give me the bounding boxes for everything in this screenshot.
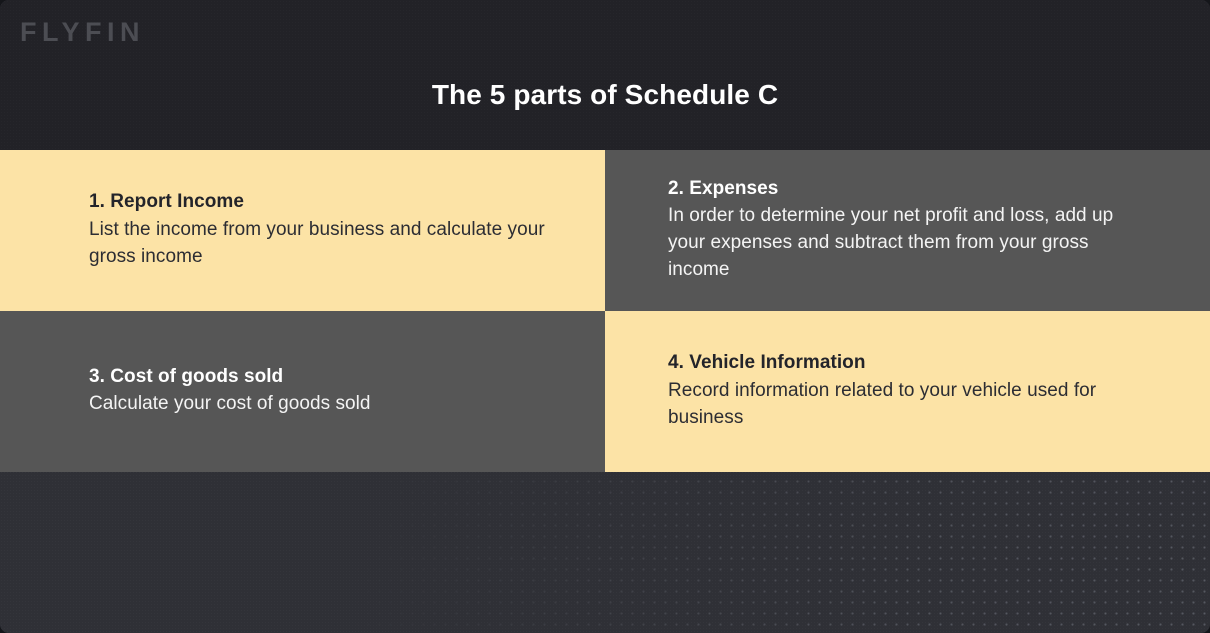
card-title: 2. Expenses [668, 177, 1150, 202]
card-body: Calculate your cost of goods sold [89, 391, 555, 418]
page-title: The 5 parts of Schedule C [0, 79, 1210, 111]
slide-header: FLYFIN The 5 parts of Schedule C [0, 0, 1210, 150]
card-cost-of-goods-sold: 3. Cost of goods sold Calculate your cos… [0, 311, 605, 472]
card-title: 4. Vehicle Information [668, 351, 1150, 376]
flyfin-logo: FLYFIN [20, 19, 145, 46]
card-expenses: 2. Expenses In order to determine your n… [605, 150, 1210, 311]
schedule-c-slide: FLYFIN The 5 parts of Schedule C 1. Repo… [0, 0, 1210, 633]
card-vehicle-information: 4. Vehicle Information Record informatio… [605, 311, 1210, 472]
card-body: In order to determine your net profit an… [668, 203, 1150, 284]
card-title: 1. Report Income [89, 190, 555, 215]
card-body: Record information related to your vehic… [668, 378, 1150, 432]
card-title: 3. Cost of goods sold [89, 365, 555, 390]
card-report-income: 1. Report Income List the income from yo… [0, 150, 605, 311]
schedule-c-parts-grid: 1. Report Income List the income from yo… [0, 150, 1210, 472]
card-body: List the income from your business and c… [89, 217, 555, 271]
